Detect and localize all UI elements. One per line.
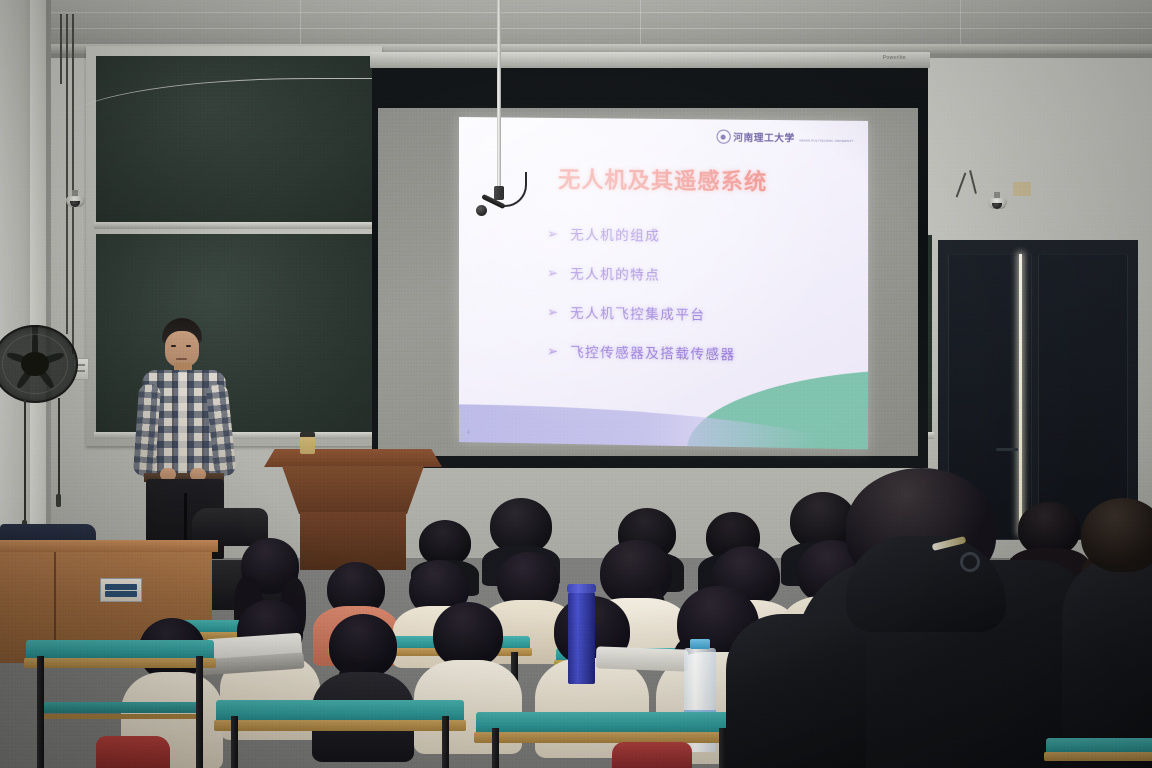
- student-desk-row1-mid: [216, 700, 464, 768]
- cabinet-asset-label: [100, 578, 142, 602]
- bullet-arrow-icon: ➢: [547, 266, 558, 279]
- bullet-arrow-icon: ➢: [547, 305, 558, 318]
- wall-pillar-inner: [30, 0, 46, 560]
- door-handle[interactable]: [996, 448, 1018, 451]
- microphone-capsule-icon: [476, 205, 487, 216]
- student-desk-row1-right: [476, 712, 742, 768]
- bullet-arrow-icon: ➢: [547, 344, 558, 357]
- bullet-label: 无人机飞控集成平台: [570, 302, 705, 324]
- chalk-tray-left-upper: [94, 222, 374, 229]
- foreground-student-left-torso: [726, 614, 866, 768]
- university-logo: 河南理工大学 HENAN POLYTECHNIC UNIVERSITY: [716, 128, 854, 148]
- bullet-label: 飞控传感器及搭载传感器: [570, 341, 735, 364]
- bullet-label: 无人机的组成: [570, 223, 660, 244]
- wall-sticker: [1013, 182, 1031, 196]
- wall-fan[interactable]: [0, 325, 78, 403]
- university-logo-text: 河南理工大学: [733, 134, 795, 145]
- stacked-papers-3: [596, 646, 689, 671]
- fan-pull-cord-2[interactable]: [58, 398, 60, 498]
- fan-cord-grip-2[interactable]: [56, 494, 61, 507]
- fan-pull-cord[interactable]: [24, 398, 26, 524]
- slide-page-number: 4: [467, 430, 470, 436]
- red-garment: [96, 736, 170, 768]
- projected-slide: 河南理工大学 HENAN POLYTECHNIC UNIVERSITY 无人机及…: [459, 117, 868, 449]
- list-item: ➢ 飞控传感器及搭载传感器: [547, 340, 850, 365]
- microphone-pole: [497, 0, 501, 200]
- lecturer-face: [165, 331, 199, 367]
- projection-screen-housing: Powerlite: [370, 52, 930, 68]
- student-desk-foreground-right: [1046, 738, 1152, 768]
- screen-brand-label: Powerlite: [883, 55, 906, 61]
- logo-mark-icon: [716, 130, 730, 144]
- bullet-arrow-icon: ➢: [547, 227, 558, 240]
- list-item: ➢ 无人机的组成: [547, 223, 850, 247]
- jacket-toggle-icon: [960, 552, 980, 572]
- bullet-label: 无人机的特点: [570, 262, 660, 283]
- thermos-bottle[interactable]: [568, 592, 595, 684]
- drinking-cup: [300, 432, 315, 454]
- foreground-student-farright-torso: [1062, 556, 1152, 768]
- lecture-hall-photo: Powerlite 河南理工大学 HENAN POLYTECHNIC UNIVE…: [0, 0, 1152, 768]
- list-item: ➢ 无人机的特点: [547, 262, 850, 286]
- pillar-edge: [46, 0, 51, 560]
- university-logo-subtext: HENAN POLYTECHNIC UNIVERSITY: [799, 138, 853, 143]
- wall-pillar-outer: [0, 0, 34, 560]
- door-light-gap: [1019, 254, 1022, 534]
- foreground-student-farright-head: [1078, 498, 1152, 578]
- list-item: ➢ 无人机飞控集成平台: [547, 301, 850, 326]
- slide-bullet-list: ➢ 无人机的组成 ➢ 无人机的特点 ➢ 无人机飞控集成平台 ➢ 飞控传感器及搭载…: [547, 223, 850, 384]
- cabinet-top: [0, 540, 218, 552]
- red-garment-2: [612, 742, 692, 768]
